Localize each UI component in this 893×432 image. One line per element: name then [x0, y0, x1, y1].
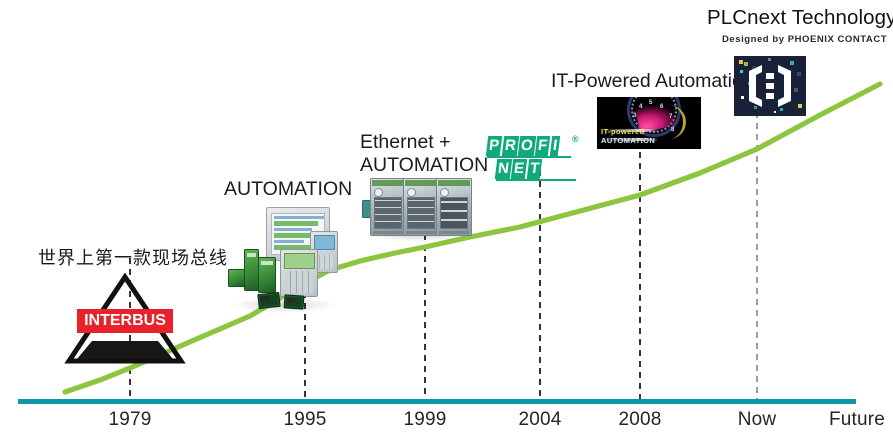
- gauge-number-4: 4: [639, 104, 642, 110]
- axis-tick-1995: 1995: [275, 409, 335, 431]
- caption-automation: AUTOMATION: [224, 178, 352, 201]
- pcb-board-2: [284, 294, 305, 309]
- gauge-number-3: 3: [633, 113, 636, 119]
- plc-module-1: [244, 249, 259, 291]
- ethernet-switch-2: [403, 178, 439, 236]
- axis-tick-now: Now: [727, 409, 787, 431]
- plcnext-logo-tile: [734, 56, 806, 116]
- ethernet-switch-3: [436, 178, 472, 236]
- caption-ethernet-line2: AUTOMATION: [360, 154, 488, 176]
- axis-tick-1979: 1979: [100, 409, 160, 431]
- tacho-text-automation: AUTOMATION: [601, 136, 655, 145]
- profinet-logo: PROFI ® NET: [487, 136, 585, 184]
- caption-first-fieldbus: 世界上第一款现场总线: [38, 248, 228, 269]
- interbus-wordmark: INTERBUS: [77, 309, 173, 333]
- plcnext-title: PLCnext TechnologyP: [707, 6, 893, 30]
- gauge-number-5: 5: [649, 100, 652, 106]
- profinet-underline-2: [496, 179, 576, 181]
- plcnext-bracket-icon: [742, 63, 798, 109]
- logo-pixel: [774, 111, 776, 113]
- gauge-number-6: 6: [660, 104, 663, 110]
- profinet-line-net: NET: [496, 159, 543, 179]
- profinet-line-profi: PROFI: [487, 136, 560, 156]
- caption-it-powered-automation: IT-Powered Automation: [551, 70, 754, 93]
- axis-tick-2008: 2008: [610, 409, 670, 431]
- tachometer-image: 3 4 5 6 7 8 IT-powered AUTOMATION: [597, 97, 701, 149]
- interbus-logo: INTERBUS: [63, 273, 187, 365]
- caption-ethernet-automation: Ethernet + AUTOMATION: [360, 131, 500, 177]
- ethernet-switches-image: [368, 178, 472, 240]
- axis-tick-future: Future: [822, 409, 892, 431]
- logo-pixel: [768, 58, 771, 61]
- logo-pixel: [798, 104, 802, 108]
- tacho-text-it-powered: IT-powered: [601, 127, 645, 136]
- hmi-keypad-panel: [280, 249, 318, 297]
- axis-tick-2004: 2004: [510, 409, 570, 431]
- profinet-underline-1: [487, 156, 571, 158]
- ethernet-switch-1: [370, 178, 406, 236]
- plc-module-2: [258, 257, 276, 293]
- axis-tick-1999: 1999: [395, 409, 455, 431]
- caption-ethernet-line1: Ethernet +: [360, 131, 451, 153]
- automation-products-image: [228, 205, 340, 313]
- registered-trademark-icon: ®: [572, 134, 579, 144]
- plc-connector: [228, 269, 245, 287]
- gauge-number-8: 8: [671, 127, 674, 133]
- interbus-wordmark-text: INTERBUS: [84, 312, 166, 330]
- pcb-board-1: [257, 292, 280, 309]
- gauge-number-7: 7: [669, 114, 672, 120]
- plcnext-title-text: PLCnext Technology: [707, 6, 893, 29]
- timeline-slide: 1979 1995 1999 2004 2008 Now Future 世界上第…: [0, 0, 893, 432]
- plcnext-subtitle: Designed by PHOENIX CONTACT: [722, 34, 887, 45]
